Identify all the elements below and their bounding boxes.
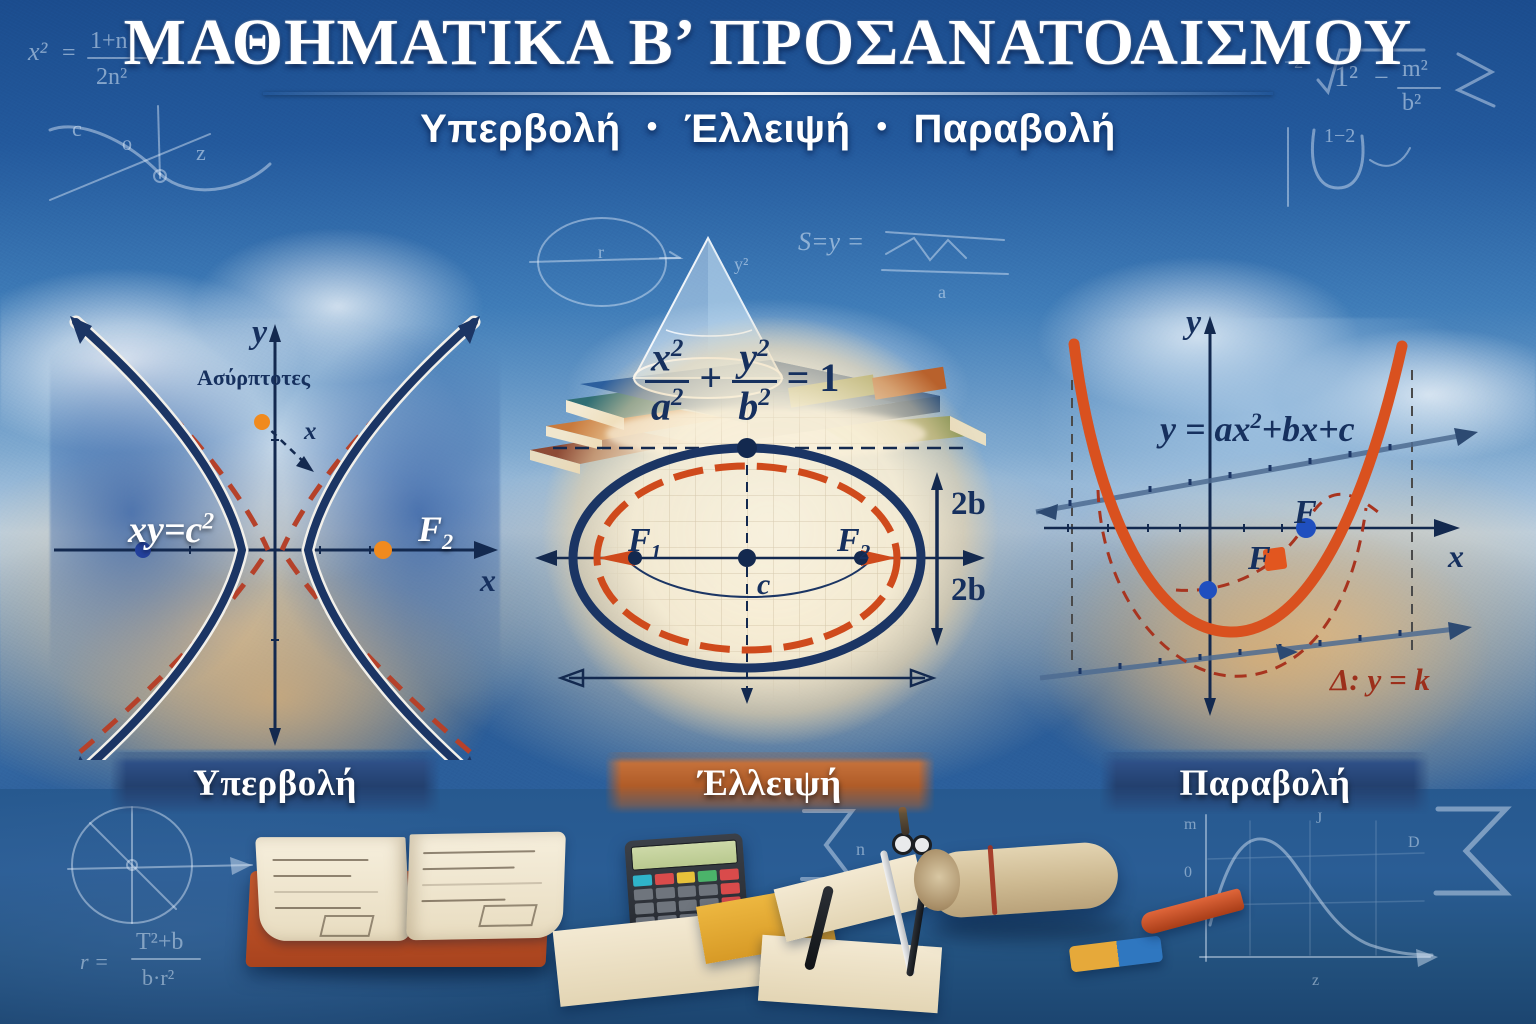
ellipse-focus1-label: F1 <box>628 522 661 565</box>
poster-root: x² = 1+n 2n² c o z −2 1² − m² b² <box>0 0 1536 1024</box>
parabola-axis-y-label: y <box>1186 304 1201 342</box>
ellipse-dim-top-label: 2b <box>951 486 986 523</box>
desk-strip: r = T²+b b·r² m 0 J D <box>0 789 1536 1024</box>
compass-hinge-left <box>892 833 914 855</box>
svg-text:z: z <box>1312 972 1319 989</box>
ellipse-caption: Έλλειψή <box>698 762 841 805</box>
parabola-equation: y = ax2+bx+c <box>1160 408 1355 450</box>
title-divider <box>263 92 1273 95</box>
header: ΜΑΘΗΜΑΤΙΚΑ Β’ ΠΡΟΣΑΝΑΤΟΑΙΣΜΟΥ Υπερβολή •… <box>0 10 1536 152</box>
panel-parabola: y = ax2+bx+c F F Δ: y = k y x Παραβολή <box>1030 300 1500 820</box>
parabola-axis-x-label: x <box>1448 538 1464 575</box>
conic-panels: Ασύρπτοτες x xy=c2 F2 y x Υπερβολή x2 a2… <box>0 300 1536 820</box>
ellipse-center-label: c <box>757 568 770 602</box>
panel-ellipse: x2 a2 + y2 b2 = 1 <box>525 300 1015 820</box>
subtitle: Υπερβολή • Έλλειψή • Παραβολή <box>0 107 1536 152</box>
ellipse-dim-bottom-label: 2b <box>951 572 986 609</box>
hyperbola-axis-y-label: y <box>252 314 267 352</box>
ellipse-caption-banner: Έλλειψή <box>605 752 935 814</box>
subtitle-separator-2: • <box>877 112 888 142</box>
parabola-focus-label-lower: F <box>1248 540 1271 578</box>
parabola-directrix-label: Δ: y = k <box>1330 662 1430 698</box>
ellipse-focus2-label: F2 <box>837 522 870 565</box>
subtitle-item-ellipse: Έλλειψή <box>684 107 851 152</box>
pen <box>1139 888 1245 936</box>
hyperbola-equation: xy=c2 <box>128 508 214 552</box>
eraser <box>1069 935 1163 972</box>
svg-text:D: D <box>1408 834 1420 851</box>
hyperbola-caption-banner: Υπερβολή <box>110 752 440 814</box>
hyperbola-axis-x-label: x <box>480 562 496 599</box>
hyperbola-focus-label: F2 <box>418 508 453 555</box>
panel-hyperbola: Ασύρπτοτες x xy=c2 F2 y x Υπερβολή <box>40 300 510 820</box>
svg-text:0: 0 <box>1184 864 1192 881</box>
subtitle-separator-1: • <box>647 112 658 142</box>
ellipse-figure <box>525 300 1015 760</box>
hyperbola-asymptote-label: Ασύρπτοτες <box>197 365 310 391</box>
open-book <box>0 789 620 1024</box>
book-page-right <box>406 832 566 941</box>
page-title: ΜΑΘΗΜΑΤΙΚΑ Β’ ΠΡΟΣΑΝΑΤΟΑΙΣΜΟΥ <box>0 10 1536 76</box>
book-page-left <box>255 837 411 941</box>
parabola-caption: Παραβολή <box>1179 762 1350 805</box>
hyperbola-caption: Υπερβολή <box>193 762 357 805</box>
subtitle-item-hyperbola: Υπερβολή <box>420 107 621 152</box>
subtitle-item-parabola: Παραβολή <box>914 107 1116 152</box>
scroll-shadow <box>930 917 1130 941</box>
calculator-screen <box>631 839 738 870</box>
hyperbola-pointer-label: x <box>304 418 317 446</box>
parabola-focus-label-upper: F <box>1294 494 1317 532</box>
parabola-caption-banner: Παραβολή <box>1100 752 1430 814</box>
